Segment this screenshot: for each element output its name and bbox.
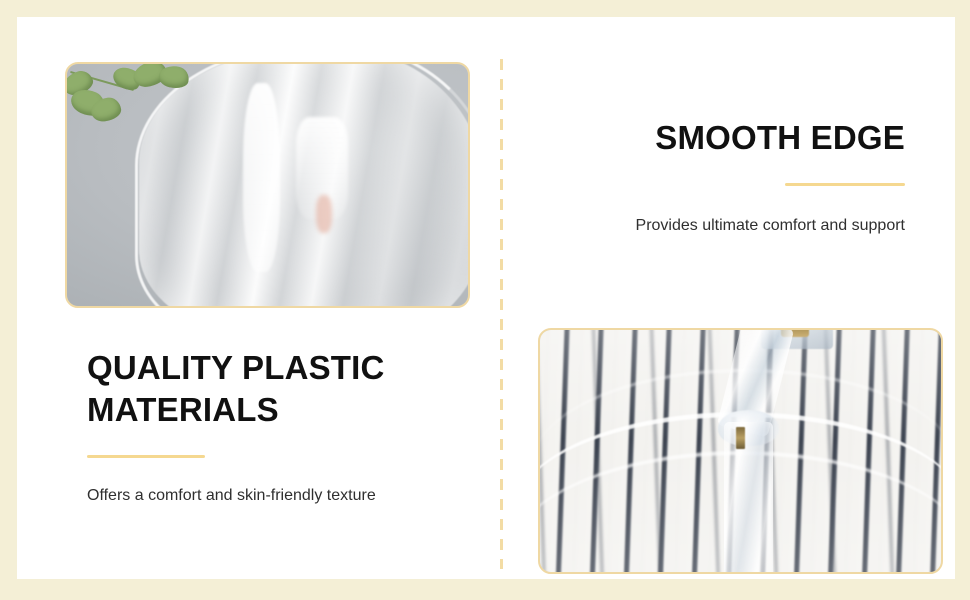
feature-title: QUALITY PLASTIC MATERIALS	[87, 347, 447, 431]
vertical-dashed-divider	[500, 59, 503, 569]
feature-title: SMOOTH EDGE	[545, 117, 905, 159]
feature-description: Provides ultimate comfort and support	[545, 186, 905, 239]
product-photo-card-smooth-edge	[538, 328, 943, 574]
product-photo-plastic-materials	[67, 64, 468, 306]
chair-warm-reflection	[316, 195, 332, 234]
feature-description: Offers a comfort and skin-friendly textu…	[87, 458, 447, 509]
chair-leg-screw	[736, 427, 744, 449]
feature-block-quality-plastic-materials: QUALITY PLASTIC MATERIALS Offers a comfo…	[87, 347, 447, 509]
content-panel: QUALITY PLASTIC MATERIALS Offers a comfo…	[17, 17, 955, 579]
outer-frame: QUALITY PLASTIC MATERIALS Offers a comfo…	[0, 0, 970, 600]
feature-block-smooth-edge: SMOOTH EDGE Provides ultimate comfort an…	[545, 117, 905, 239]
product-photo-smooth-edge	[540, 330, 941, 572]
chair-leg-lower	[724, 422, 772, 572]
chair-highlight-primary	[243, 83, 279, 272]
product-photo-card-plastic-materials	[65, 62, 470, 308]
